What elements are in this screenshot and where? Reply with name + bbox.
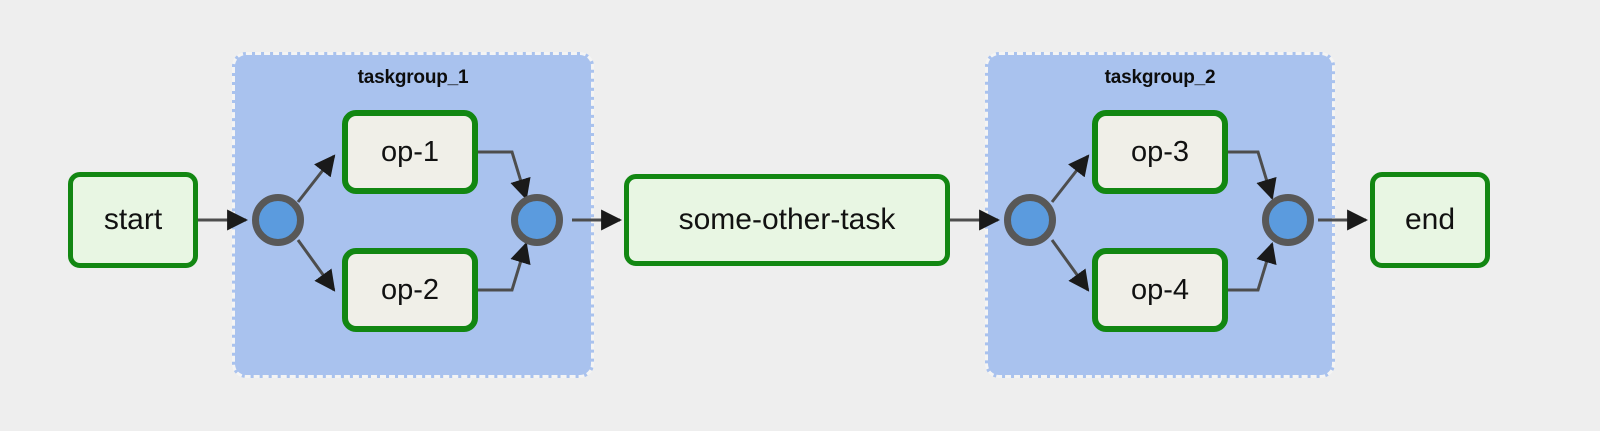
edge-op4-to-tg2out [1228, 244, 1272, 290]
task-node-op-1[interactable]: op-1 [342, 110, 478, 194]
edge-op2-to-tg1out [478, 244, 526, 290]
edge-op3-to-tg2out [1228, 152, 1272, 198]
task-node-op-4-label: op-4 [1131, 276, 1189, 305]
edge-tg2in-to-op4 [1052, 240, 1088, 290]
task-node-op-2-label: op-2 [381, 276, 439, 305]
task-node-some-other-task[interactable]: some-other-task [624, 174, 950, 266]
task-node-end-label: end [1405, 205, 1455, 235]
task-node-start-label: start [104, 205, 162, 235]
taskgroup-1-exit-joint[interactable] [511, 194, 563, 246]
task-node-start[interactable]: start [68, 172, 198, 268]
task-node-op-2[interactable]: op-2 [342, 248, 478, 332]
taskgroup-1-entry-joint[interactable] [252, 194, 304, 246]
task-node-op-3-label: op-3 [1131, 138, 1189, 167]
taskgroup-2-exit-joint[interactable] [1262, 194, 1314, 246]
task-node-op-3[interactable]: op-3 [1092, 110, 1228, 194]
dag-graph-canvas: taskgroup_1 taskgroup_2 [0, 0, 1600, 431]
edge-tg2in-to-op3 [1052, 156, 1088, 202]
task-node-op-4[interactable]: op-4 [1092, 248, 1228, 332]
task-node-op-1-label: op-1 [381, 138, 439, 167]
task-node-end[interactable]: end [1370, 172, 1490, 268]
task-node-some-other-task-label: some-other-task [679, 205, 896, 235]
edge-tg1in-to-op1 [298, 156, 334, 202]
edge-tg1in-to-op2 [298, 240, 334, 290]
edge-op1-to-tg1out [478, 152, 526, 198]
taskgroup-2-entry-joint[interactable] [1004, 194, 1056, 246]
